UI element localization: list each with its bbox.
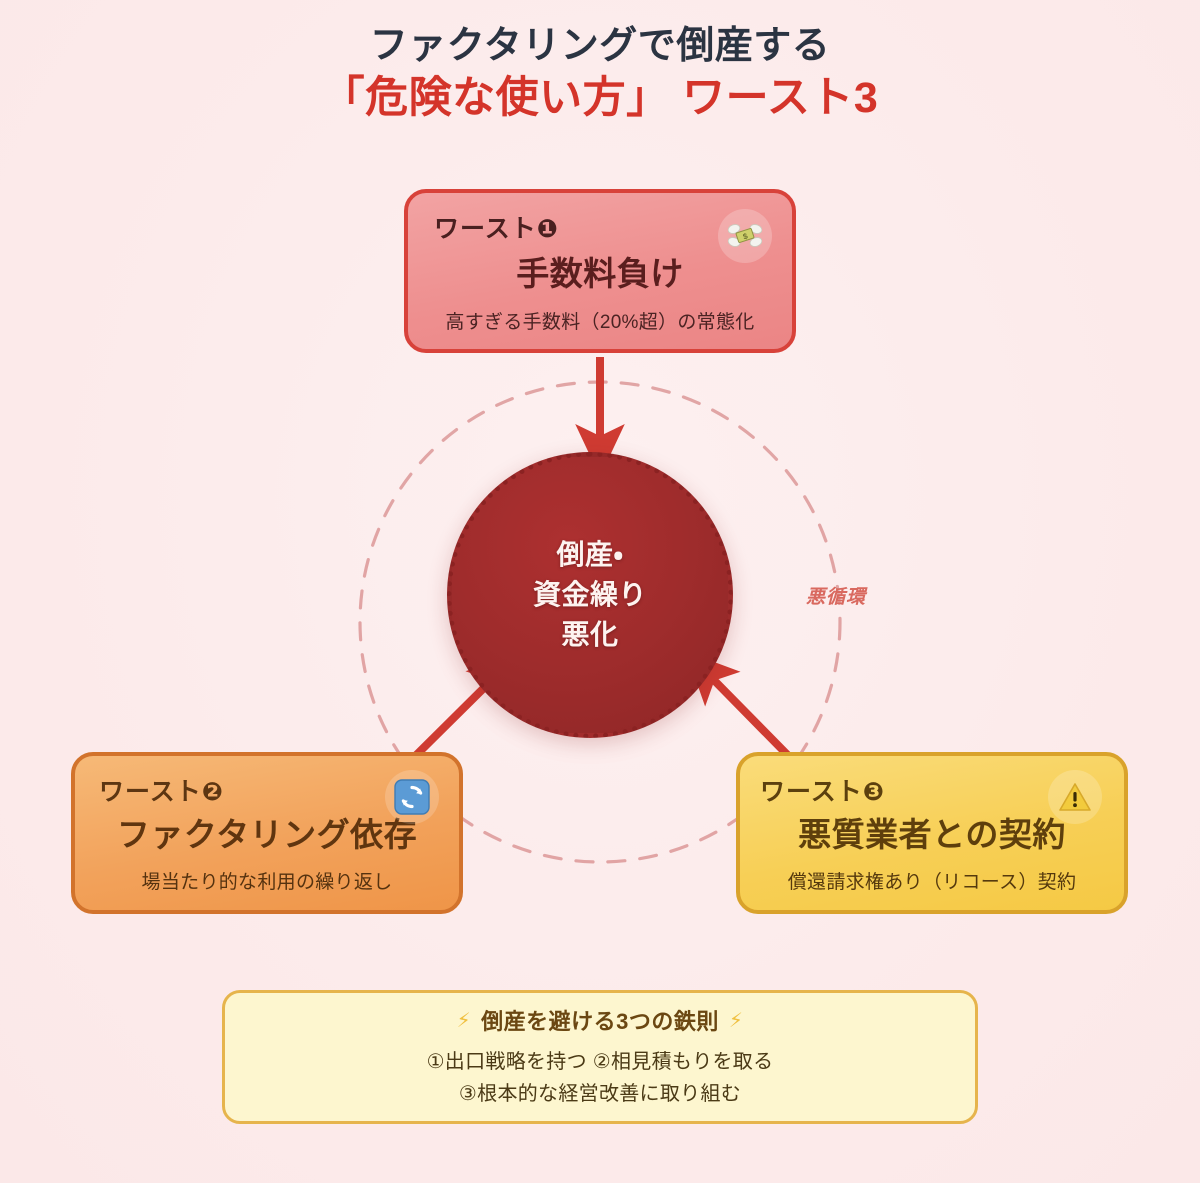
money-with-wings-icon: $ [718, 209, 772, 263]
refresh-cycle-icon [385, 770, 439, 824]
infographic-canvas: ファクタリングで倒産する 「危険な使い方」 ワースト3 倒産・ 資金繰り 悪化 … [0, 0, 1200, 1183]
worst-card-1[interactable]: ワースト❶ 手数料負け 高すぎる手数料（20%超）の常態化 $ [404, 189, 796, 353]
worst-card-1-title: 手数料負け [434, 247, 766, 295]
worst-card-3-desc: 償還請求権あり（リコース）契約 [760, 867, 1104, 894]
rules-line-1: ①出口戦略を持つ ②相見積もりを取る [427, 1046, 774, 1078]
title-line-2: 「危険な使い方」 ワースト3 [0, 71, 1200, 126]
worst-card-2[interactable]: ワースト❷ ファクタリング依存 場当たり的な利用の繰り返し [71, 752, 463, 914]
worst-card-3[interactable]: ワースト❸ 悪質業者との契約 償還請求権あり（リコース）契約 [736, 752, 1128, 914]
center-outcome-circle: 倒産・ 資金繰り 悪化 [447, 452, 733, 738]
center-line-1: 倒産・ [556, 535, 623, 575]
rules-summary-box: ⚡ 倒産を避ける3つの鉄則 ⚡ ①出口戦略を持つ ②相見積もりを取る ③根本的な… [222, 990, 978, 1124]
worst-card-1-rank: ワースト❶ [434, 209, 766, 245]
rules-heading-text: 倒産を避ける3つの鉄則 [481, 1004, 719, 1036]
rules-line-2: ③根本的な経営改善に取り組む [459, 1078, 741, 1110]
bolt-icon-right: ⚡ [729, 1008, 744, 1033]
worst-card-2-title: ファクタリング依存 [99, 808, 435, 856]
worst-card-2-desc: 場当たり的な利用の繰り返し [99, 867, 435, 894]
worst-card-3-title: 悪質業者との契約 [760, 808, 1104, 856]
center-line-2: 資金繰り [533, 575, 647, 615]
center-line-3: 悪化 [561, 615, 618, 655]
title-line-1: ファクタリングで倒産する [0, 22, 1200, 71]
vicious-cycle-label: 悪循環 [806, 582, 866, 609]
rules-heading-row: ⚡ 倒産を避ける3つの鉄則 ⚡ [457, 1004, 744, 1036]
worst-card-1-desc: 高すぎる手数料（20%超）の常態化 [434, 307, 766, 334]
page-title: ファクタリングで倒産する 「危険な使い方」 ワースト3 [0, 22, 1200, 126]
bolt-icon-left: ⚡ [457, 1008, 472, 1033]
warning-triangle-icon [1048, 770, 1102, 824]
